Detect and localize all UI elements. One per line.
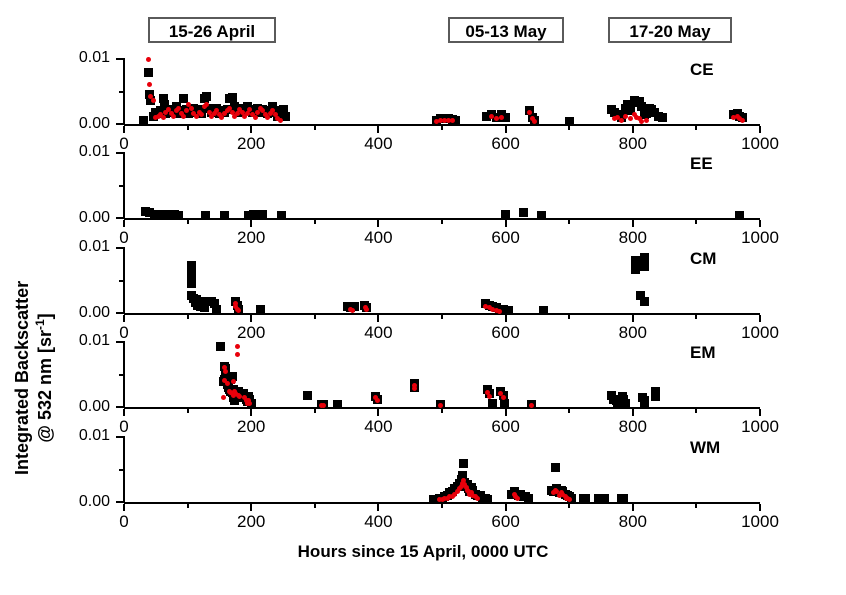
x-tick-major bbox=[377, 504, 379, 511]
x-tick-label: 400 bbox=[348, 512, 408, 532]
y-tick-label: 0.00 bbox=[58, 494, 110, 510]
y-tick-label: 0.01 bbox=[58, 428, 110, 444]
data-point-red bbox=[515, 496, 520, 501]
x-tick-minor bbox=[441, 504, 443, 508]
integrated-backscatter-figure: 15-26 April05-13 May17-20 May Integrated… bbox=[0, 0, 846, 595]
x-tick-major bbox=[123, 504, 125, 511]
x-tick-major bbox=[505, 504, 507, 511]
data-point-black bbox=[483, 495, 492, 504]
data-point-black bbox=[581, 494, 590, 503]
data-point-black bbox=[551, 463, 560, 472]
y-tick-minor bbox=[119, 469, 124, 471]
x-tick-minor bbox=[314, 504, 316, 508]
data-point-black bbox=[524, 494, 533, 503]
x-tick-label: 800 bbox=[603, 512, 663, 532]
y-tick-major bbox=[116, 436, 124, 438]
x-tick-label: 200 bbox=[221, 512, 281, 532]
y-tick-major bbox=[116, 501, 124, 503]
x-tick-major bbox=[759, 504, 761, 511]
panel-wm: 0.010.0002004006008001000WM bbox=[0, 0, 846, 595]
data-point-red bbox=[567, 497, 572, 502]
x-tick-major bbox=[250, 504, 252, 511]
x-tick-minor bbox=[568, 504, 570, 508]
x-tick-label: 600 bbox=[476, 512, 536, 532]
data-point-black bbox=[619, 494, 628, 503]
data-point-black bbox=[600, 494, 609, 503]
x-tick-major bbox=[632, 504, 634, 511]
x-tick-minor bbox=[187, 504, 189, 508]
x-tick-minor bbox=[695, 504, 697, 508]
data-point-black bbox=[459, 459, 468, 468]
panel-label-wm: WM bbox=[690, 438, 720, 458]
x-axis-title: Hours since 15 April, 0000 UTC bbox=[0, 542, 846, 562]
x-tick-label: 1000 bbox=[730, 512, 790, 532]
data-point-red bbox=[475, 496, 480, 501]
x-tick-label: 0 bbox=[94, 512, 154, 532]
